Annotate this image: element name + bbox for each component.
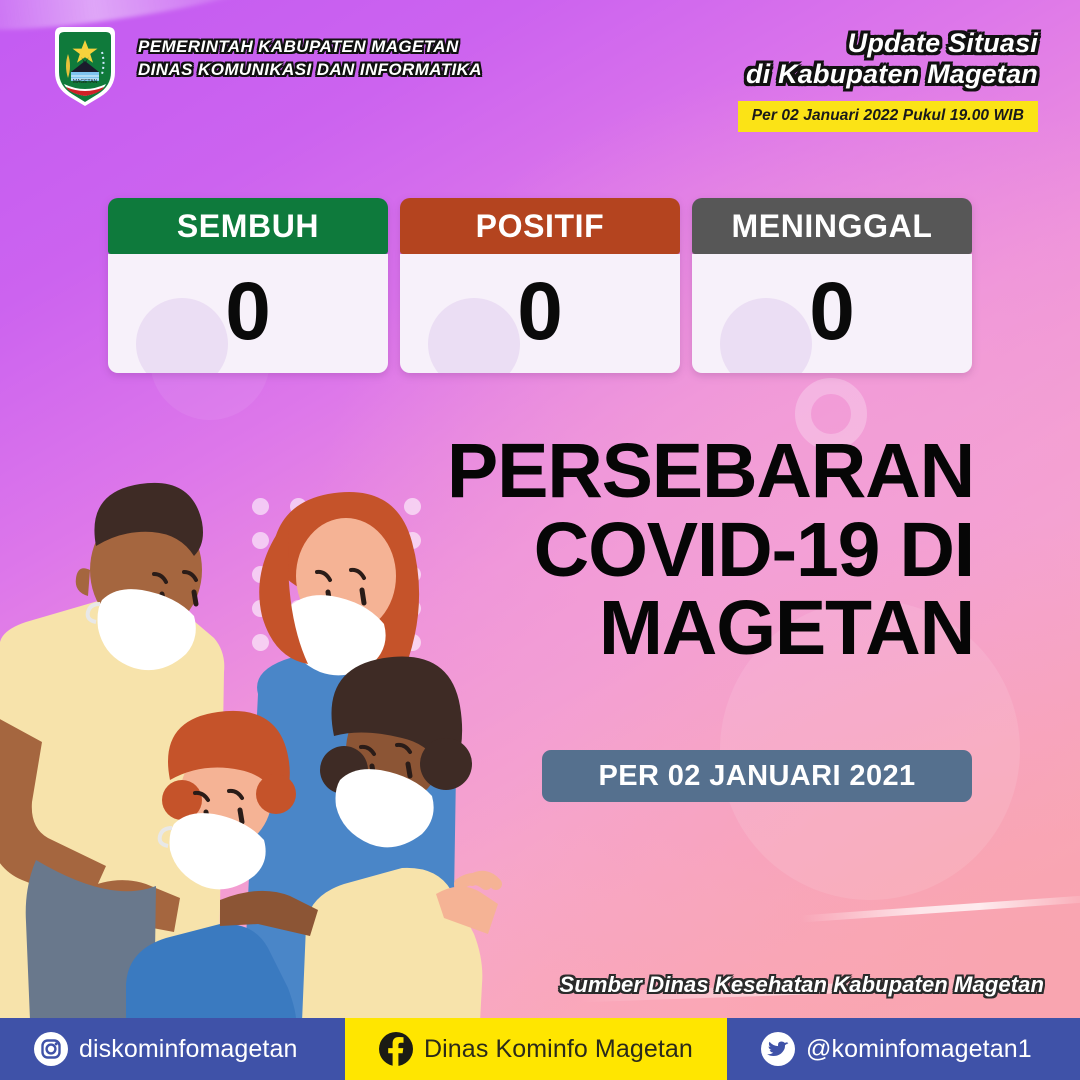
poster-header: MAGETAN PEMERINTAH KABUPATEN MAGETAN DIN… xyxy=(0,0,1080,140)
stat-value-deceased: 0 xyxy=(809,271,855,353)
stat-card-body: 0 xyxy=(108,254,388,373)
update-title-line-2: di Kabupaten Magetan xyxy=(738,59,1038,90)
update-title-line-1: Update Situasi xyxy=(738,28,1038,59)
stat-value-positive: 0 xyxy=(517,271,563,353)
covid-infographic-poster: MAGETAN PEMERINTAH KABUPATEN MAGETAN DIN… xyxy=(0,0,1080,1080)
stat-card-body: 0 xyxy=(692,254,972,373)
stat-card-body: 0 xyxy=(400,254,680,373)
footer-instagram[interactable]: diskominfomagetan xyxy=(0,1018,345,1080)
instagram-icon xyxy=(34,1032,68,1066)
gov-line-1: PEMERINTAH KABUPATEN MAGETAN xyxy=(138,36,482,59)
date-badge: PER 02 JANUARI 2021 xyxy=(542,750,972,802)
stat-card-header: SEMBUH xyxy=(108,198,388,254)
footer-facebook[interactable]: Dinas Kominfo Magetan xyxy=(345,1018,727,1080)
magetan-regency-crest-icon: MAGETAN xyxy=(48,24,122,106)
svg-text:MAGETAN: MAGETAN xyxy=(73,79,98,85)
facebook-icon xyxy=(379,1032,413,1066)
source-attribution: Sumber Dinas Kesehatan Kabupaten Magetan xyxy=(560,972,1044,998)
statistics-cards: SEMBUH 0 POSITIF 0 MENINGGAL 0 xyxy=(108,198,974,373)
update-status-block: Update Situasi di Kabupaten Magetan Per … xyxy=(738,28,1038,132)
update-timestamp-badge: Per 02 Januari 2022 Pukul 19.00 WIB xyxy=(738,101,1038,132)
stat-card-positive: POSITIF 0 xyxy=(400,198,680,373)
title-line-1: PERSEBARAN xyxy=(374,432,974,511)
title-line-2: COVID-19 DI xyxy=(374,511,974,590)
title-line-3: MAGETAN xyxy=(374,589,974,668)
twitter-handle: @kominfomagetan1 xyxy=(806,1035,1032,1064)
stat-card-header: POSITIF xyxy=(400,198,680,254)
stat-card-recovered: SEMBUH 0 xyxy=(108,198,388,373)
stat-value-recovered: 0 xyxy=(225,271,271,353)
decorative-streak xyxy=(800,895,1080,923)
social-footer: diskominfomagetan Dinas Kominfo Magetan … xyxy=(0,1018,1080,1080)
instagram-handle: diskominfomagetan xyxy=(79,1035,298,1064)
government-title: PEMERINTAH KABUPATEN MAGETAN DINAS KOMUN… xyxy=(138,36,482,82)
footer-twitter[interactable]: @kominfomagetan1 xyxy=(727,1018,1080,1080)
facebook-handle: Dinas Kominfo Magetan xyxy=(424,1035,693,1064)
twitter-icon xyxy=(761,1032,795,1066)
main-title: PERSEBARAN COVID-19 DI MAGETAN xyxy=(374,432,974,668)
gov-line-2: DINAS KOMUNIKASI DAN INFORMATIKA xyxy=(138,59,482,82)
stat-card-header: MENINGGAL xyxy=(692,198,972,254)
stat-card-deceased: MENINGGAL 0 xyxy=(692,198,972,373)
